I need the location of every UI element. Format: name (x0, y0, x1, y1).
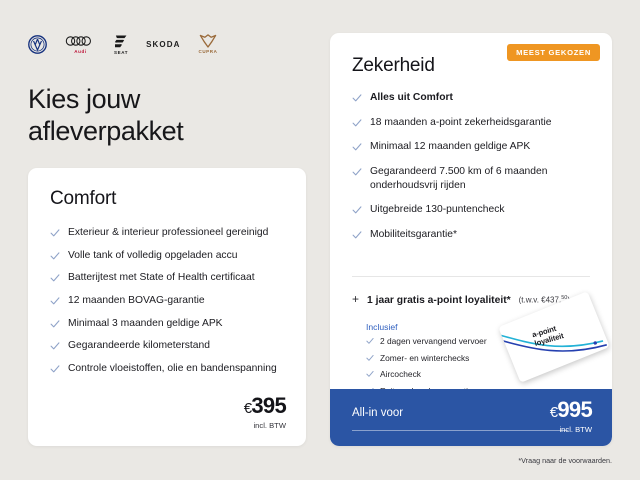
check-icon (50, 296, 60, 306)
allin-price-footer: All-in voor €995 incl. BTW (330, 389, 612, 446)
check-icon (366, 354, 374, 362)
skoda-wordmark: SKODA (146, 40, 180, 49)
section-divider (352, 276, 590, 277)
list-item: 2 dagen vervangend vervoer (366, 336, 487, 347)
zekerheid-title: Zekerheid (352, 55, 435, 77)
check-icon (50, 364, 60, 374)
check-icon (50, 251, 60, 261)
list-item: Minimaal 12 maanden geldige APK (352, 140, 602, 154)
check-icon (352, 142, 362, 152)
list-item: 12 maanden BOVAG-garantie (50, 294, 292, 308)
list-item: Gegarandeerde kilometerstand (50, 339, 292, 353)
list-item-label: Aircocheck (380, 369, 421, 380)
amount-value: 995 (557, 397, 592, 422)
check-icon (50, 341, 60, 351)
list-item-label: Mobiliteitsgarantie* (370, 228, 457, 242)
comfort-price-amount: €395 (244, 395, 286, 417)
check-icon (352, 93, 362, 103)
list-item: Alles uit Comfort (352, 91, 602, 105)
list-item: Uitgebreide 130-puntencheck (352, 203, 602, 217)
list-item-label: Minimaal 12 maanden geldige APK (370, 140, 530, 154)
cupra-wordmark: CUPRA (198, 49, 217, 54)
list-item-label: Alles uit Comfort (370, 91, 453, 105)
status-badge: MEEST GEKOZEN (507, 44, 600, 61)
check-icon (50, 273, 60, 283)
check-icon (50, 319, 60, 329)
list-item: Mobiliteitsgarantie* (352, 228, 602, 242)
list-item-label: 18 maanden a-point zekerheidsgarantie (370, 116, 551, 130)
list-item: Zomer- en winterchecks (366, 353, 487, 364)
list-item: Controle vloeistoffen, olie en bandenspa… (50, 362, 292, 376)
allin-label: All-in voor (352, 407, 403, 419)
list-item-label: 12 maanden BOVAG-garantie (68, 294, 205, 308)
skoda-logo: SKODA (146, 40, 180, 49)
list-item-label: Batterijtest met State of Health certifi… (68, 271, 255, 285)
list-item-label: Minimaal 3 maanden geldige APK (68, 317, 223, 331)
page-footnote: *Vraag naar de voorwaarden. (518, 456, 612, 465)
check-icon (352, 205, 362, 215)
check-icon (352, 167, 362, 177)
list-item: 18 maanden a-point zekerheidsgarantie (352, 116, 602, 130)
list-item-label: Exterieur & interieur professioneel gere… (68, 226, 268, 240)
zekerheid-price-note: incl. BTW (560, 425, 593, 434)
list-item: Batterijtest met State of Health certifi… (50, 271, 292, 285)
footer-rule (352, 430, 568, 431)
seat-logo: SEAT (114, 34, 128, 55)
list-item-label: Gegarandeerde kilometerstand (68, 339, 210, 353)
list-item: Minimaal 3 maanden geldige APK (50, 317, 292, 331)
list-item: Exterieur & interieur professioneel gere… (50, 226, 292, 240)
list-item-label: 2 dagen vervangend vervoer (380, 336, 487, 347)
zekerheid-package-card[interactable]: MEEST GEKOZEN Zekerheid Alles uit Comfor… (330, 33, 612, 446)
zekerheid-feature-list: Alles uit Comfort 18 maanden a-point zek… (352, 91, 602, 253)
zekerheid-price-amount: €995 (550, 399, 592, 421)
plus-icon: + (352, 293, 359, 305)
comfort-price-note: incl. BTW (244, 421, 286, 430)
comfort-price: €395 incl. BTW (244, 395, 286, 430)
volkswagen-logo (28, 35, 47, 54)
comfort-feature-list: Exterieur & interieur professioneel gere… (50, 226, 292, 385)
brand-logo-strip: Audi SEAT SKODA CUPRA (28, 31, 217, 57)
bonus-value-prefix: (t.w.v. € (519, 296, 546, 305)
comfort-title: Comfort (50, 188, 116, 210)
audi-wordmark: Audi (74, 49, 86, 54)
bonus-label: 1 jaar gratis a-point loyaliteit* (367, 295, 511, 306)
list-item: Aircocheck (366, 369, 487, 380)
list-item-label: Zomer- en winterchecks (380, 353, 469, 364)
list-item: Volle tank of volledig opgeladen accu (50, 249, 292, 263)
list-item-label: Uitgebreide 130-puntencheck (370, 203, 505, 217)
list-item-label: Gegarandeerd 7.500 km of 6 maanden onder… (370, 165, 595, 192)
seat-wordmark: SEAT (114, 50, 128, 55)
check-icon (366, 370, 374, 378)
check-icon (366, 337, 374, 345)
list-item-label: Volle tank of volledig opgeladen accu (68, 249, 237, 263)
page-title: Kies jouw afleverpakket (28, 84, 183, 147)
comfort-package-card[interactable]: Comfort Exterieur & interieur profession… (28, 168, 306, 446)
list-item: Gegarandeerd 7.500 km of 6 maanden onder… (352, 165, 602, 192)
included-title: Inclusief (366, 322, 398, 332)
amount-value: 395 (251, 393, 286, 418)
check-icon (50, 228, 60, 238)
check-icon (352, 230, 362, 240)
cupra-logo: CUPRA (198, 34, 217, 54)
check-icon (352, 118, 362, 128)
list-item-label: Controle vloeistoffen, olie en bandenspa… (68, 362, 277, 376)
delivery-package-offer-page: Audi SEAT SKODA CUPRA Kies jouw afleverp… (0, 0, 640, 480)
audi-logo: Audi (65, 35, 96, 54)
